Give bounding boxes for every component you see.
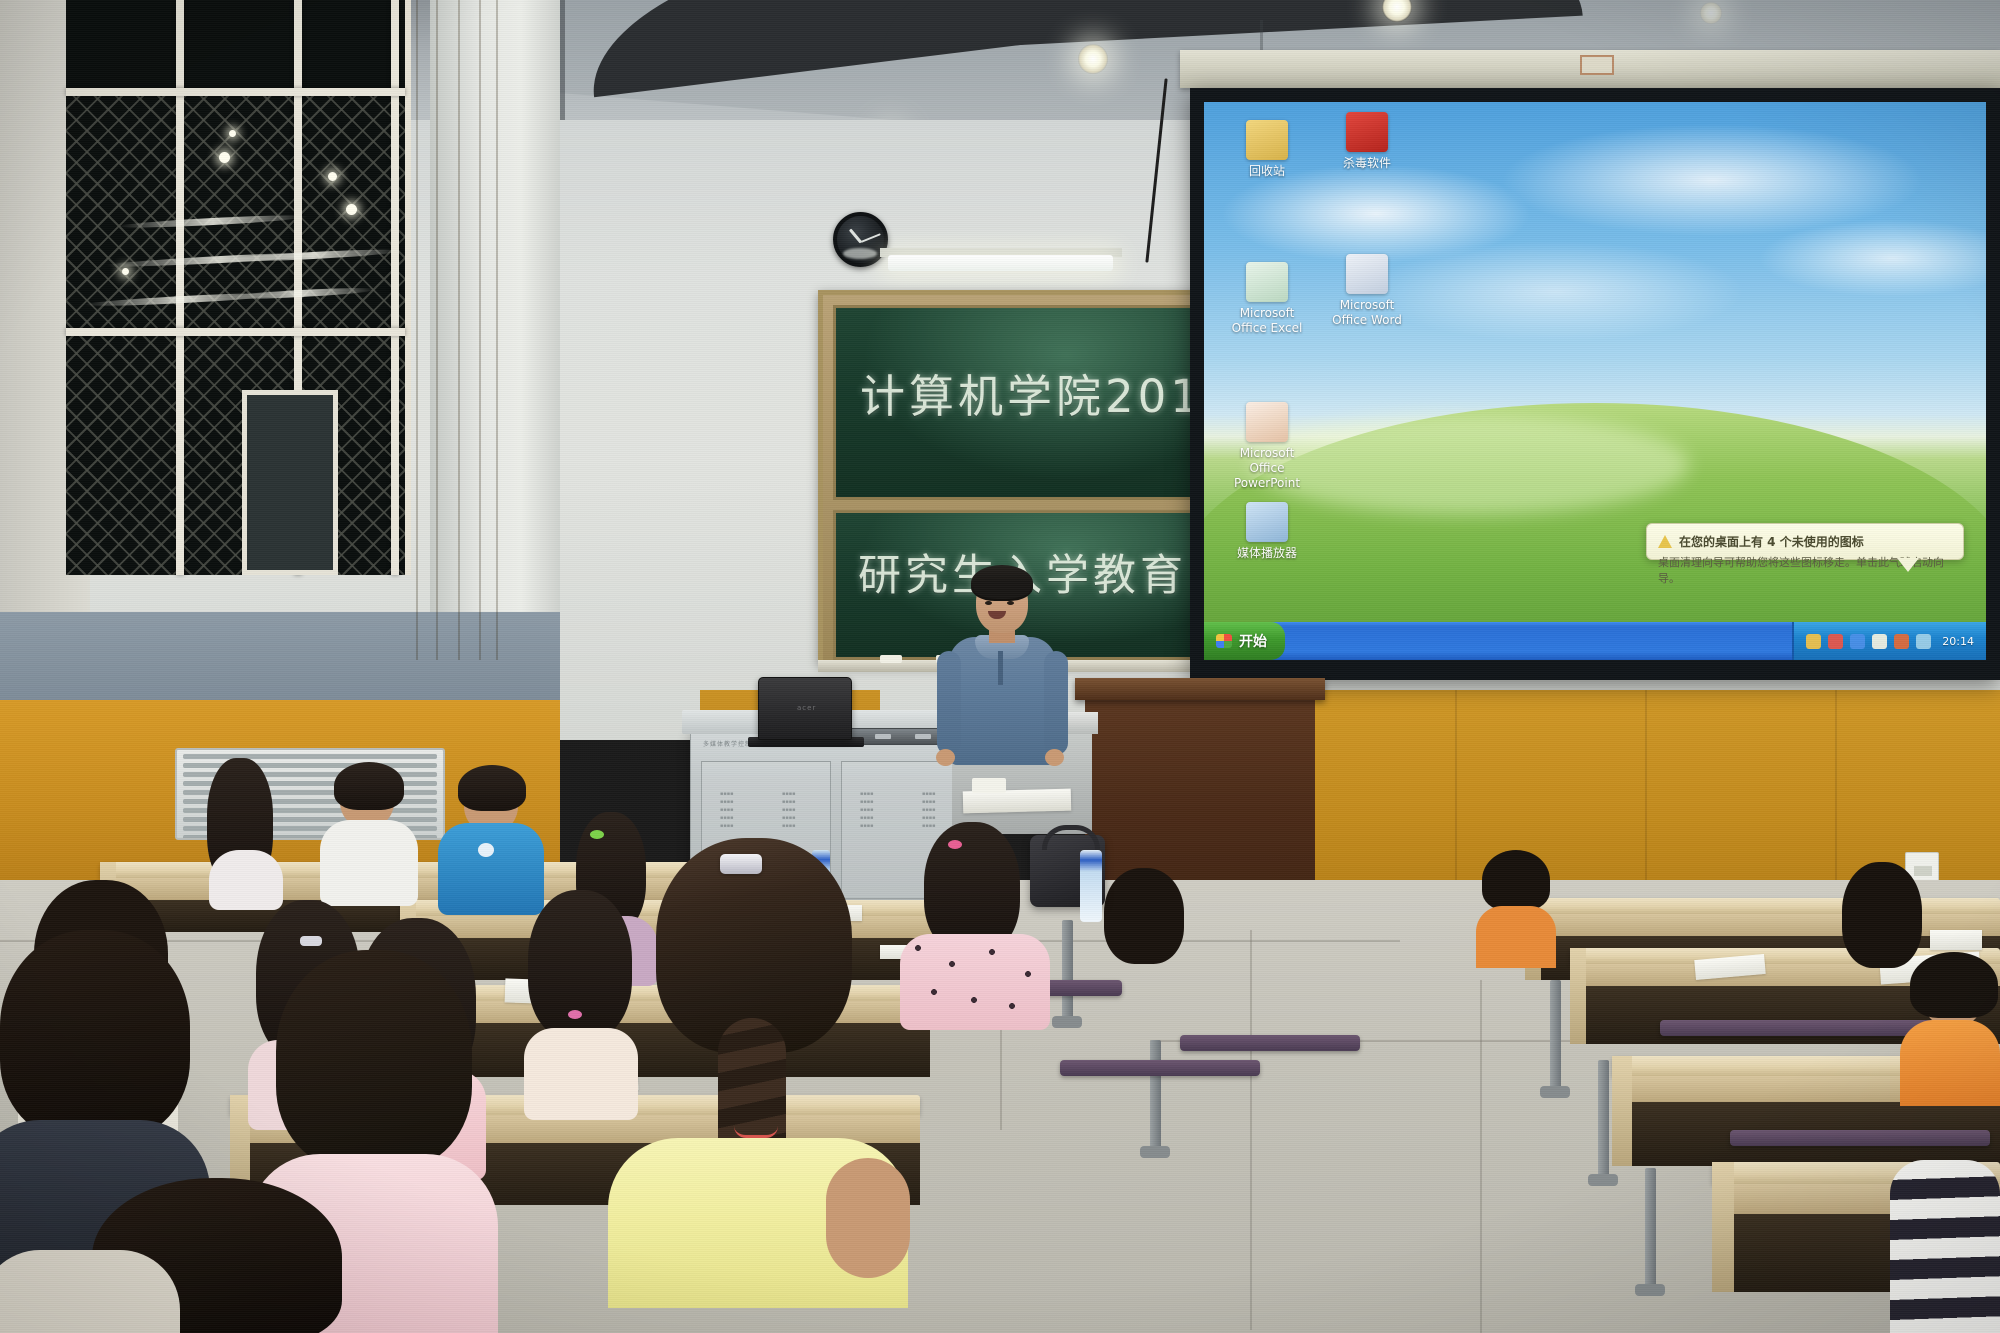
desk-foot: [1588, 1174, 1618, 1186]
desk-foot: [1635, 1284, 1665, 1296]
student-right-block-back: [1476, 850, 1556, 955]
windows-xp-bliss-wallpaper: 回收站 杀毒软件 Microsoft Office Excel Microsof…: [1204, 102, 1986, 660]
lecturer-arm-right: [1044, 651, 1068, 755]
desktop-icon-label: 回收站: [1249, 164, 1285, 178]
water-bottle-desk[interactable]: [1080, 850, 1102, 922]
window-vent-panel: [242, 390, 338, 575]
classroom-photo: 计算机学院2011级 研究生入学教育 回收站 杀毒软件 Mi: [0, 0, 2000, 1333]
student-hair: [1104, 868, 1184, 964]
student-torso-striped: [1890, 1160, 2000, 1333]
desk-leg: [1150, 1040, 1161, 1150]
student-pink-polkadot: [900, 822, 1050, 992]
hair-tie-green: [590, 830, 604, 839]
student-hair: [1482, 850, 1550, 910]
lectern-top-surface: [1075, 678, 1325, 700]
classroom-window: [66, 0, 411, 575]
student-orange-right: [1900, 952, 2000, 1092]
network-icon[interactable]: [1850, 634, 1865, 649]
update-icon[interactable]: [1916, 634, 1931, 649]
lecturer-hand-left: [936, 749, 955, 766]
student-striped-right: [1890, 1140, 2000, 1333]
volume-icon[interactable]: [1828, 634, 1843, 649]
blackboard-eraser[interactable]: [972, 778, 1006, 793]
student-hair: [0, 930, 190, 1140]
desk-leg: [1598, 1060, 1609, 1178]
screen-mount-bracket: [1580, 55, 1614, 75]
media-player-icon[interactable]: 媒体播放器: [1224, 502, 1310, 561]
student-torso: [320, 820, 418, 906]
student-hair: [458, 765, 526, 811]
safely-remove-icon[interactable]: [1806, 634, 1821, 649]
windows-flag-icon: [1216, 634, 1232, 648]
start-button-label: 开始: [1239, 631, 1267, 651]
hair-tie-pink-2: [568, 1010, 582, 1019]
desk-foot: [1540, 1086, 1570, 1098]
warning-icon: [1658, 535, 1672, 548]
shirt-logo: [478, 843, 494, 857]
fluorescent-tube-light: [888, 255, 1113, 271]
lecturer-hair: [971, 565, 1033, 601]
powerpoint-icon[interactable]: Microsoft Office PowerPoint: [1224, 402, 1310, 491]
projection-screen: 回收站 杀毒软件 Microsoft Office Excel Microsof…: [1190, 88, 2000, 680]
lecturer-placket: [998, 651, 1003, 685]
input-method-icon[interactable]: [1872, 634, 1887, 649]
student-back-row-long-hair: [205, 758, 285, 878]
desk-leg: [1645, 1168, 1656, 1288]
lecturer-hand-right: [1045, 749, 1064, 766]
desktop-icon-label: Microsoft Office Word: [1332, 298, 1402, 327]
desk-foot: [1140, 1146, 1170, 1158]
student-hair: [334, 762, 404, 810]
paper-on-desk[interactable]: [1930, 930, 1982, 950]
student-bottom-left-edge: [0, 1210, 180, 1333]
student-torso: [1900, 1020, 2000, 1106]
student-shoulder: [0, 1250, 180, 1333]
blackboard-upper-panel: 计算机学院2011级: [833, 305, 1223, 500]
student-torso: [1476, 906, 1556, 968]
desktop-cleanup-balloon-tooltip[interactable]: 在您的桌面上有 4 个未使用的图标 桌面清理向导可帮助您将这些图标移走。单击此气…: [1646, 523, 1964, 560]
desk-foot: [1052, 1016, 1082, 1028]
laptop-lid[interactable]: acer: [758, 677, 852, 740]
antivirus-icon[interactable]: 杀毒软件: [1324, 112, 1410, 171]
word-icon[interactable]: Microsoft Office Word: [1324, 254, 1410, 328]
desk-leg: [1062, 920, 1073, 1020]
student-mid-right-row: [1096, 868, 1192, 978]
system-tray[interactable]: 20:14: [1792, 622, 1986, 660]
desktop-icon-label: Microsoft Office PowerPoint: [1234, 446, 1300, 490]
projector-screen-housing: [1180, 50, 2000, 88]
necklace: [734, 1126, 778, 1138]
hair-tie-pink: [948, 840, 962, 849]
windows-taskbar[interactable]: 开始 20:14: [1204, 622, 1986, 660]
hair-clip-silver: [720, 854, 762, 874]
hair-clip: [300, 936, 322, 946]
balloon-title: 在您的桌面上有 4 个未使用的图标: [1679, 533, 1864, 550]
desktop-icon-label: Microsoft Office Excel: [1232, 306, 1303, 335]
student-back-row-blue-shirt: [438, 765, 544, 885]
laptop-logo: acer: [797, 704, 816, 712]
student-far-right-head: [1838, 862, 1928, 972]
bench-seat[interactable]: [1180, 1035, 1360, 1051]
shield-icon[interactable]: [1894, 634, 1909, 649]
desk-leg: [1550, 980, 1561, 1090]
ceiling-light-4: [1700, 2, 1722, 24]
window-curtain: [400, 0, 515, 660]
excel-icon[interactable]: Microsoft Office Excel: [1224, 262, 1310, 336]
student-back-row-white-shirt: [320, 762, 418, 882]
balloon-tail: [1897, 558, 1919, 572]
start-button[interactable]: 开始: [1204, 622, 1285, 660]
student-arm: [826, 1158, 910, 1278]
desktop-icon-label: 媒体播放器: [1237, 546, 1297, 560]
student-hair: [1842, 862, 1922, 968]
student-hair: [276, 950, 472, 1170]
lecturer-arm-left: [937, 651, 961, 755]
student-torso: [900, 934, 1050, 1030]
blackboard-text-line1: 计算机学院2011级: [860, 360, 1223, 425]
recycle-bin-icon[interactable]: 回收站: [1224, 120, 1310, 179]
bench-seat[interactable]: [1060, 1060, 1260, 1076]
wall-clock: [833, 212, 888, 267]
taskbar-clock[interactable]: 20:14: [1942, 635, 1974, 648]
ceiling-light-1: [1078, 44, 1108, 74]
desktop-icon-label: 杀毒软件: [1343, 156, 1391, 170]
student-yellow-top-braid: [608, 838, 908, 1278]
